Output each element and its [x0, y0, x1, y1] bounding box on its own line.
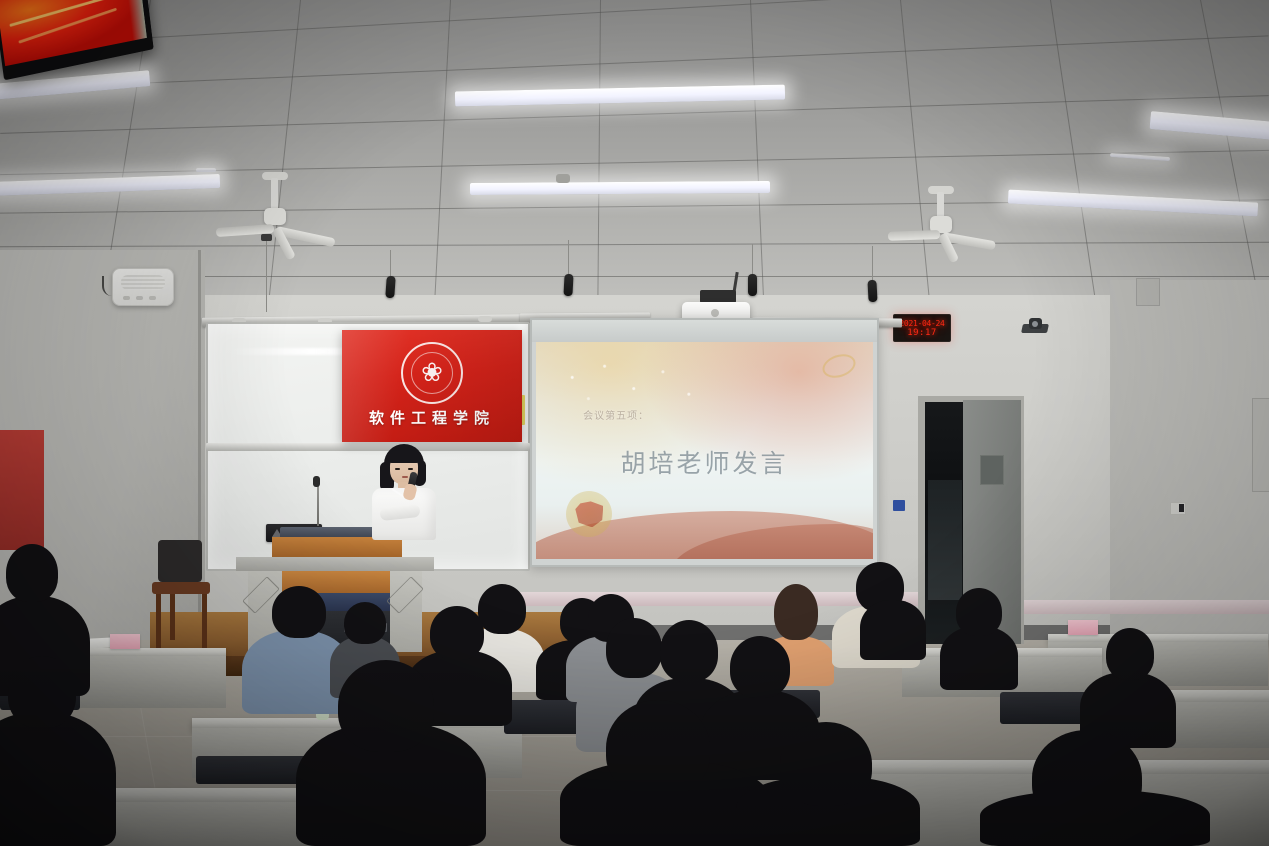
emblem-glyph: ❀ [411, 352, 453, 394]
hanging-microphone [748, 274, 757, 296]
mic-cable [752, 244, 753, 276]
wall-fixture [1136, 278, 1160, 306]
smoke-detector-icon [556, 174, 570, 183]
wall-panel [1252, 398, 1269, 492]
audience-head [8, 656, 76, 728]
desk-side [66, 656, 226, 708]
mic-cable [568, 240, 569, 276]
mic-clamp [261, 234, 272, 241]
audience-head [338, 660, 434, 752]
slide-corner-decor [820, 350, 859, 381]
mic-cable [266, 240, 267, 312]
podium-microphone [313, 476, 320, 487]
security-camera [1022, 318, 1048, 334]
audience-head [956, 588, 1002, 636]
audience-head [780, 722, 872, 806]
ceiling-light [1150, 111, 1269, 143]
hanging-microphone [385, 276, 396, 299]
name-card [110, 634, 140, 649]
presenter [368, 444, 438, 540]
audience-head [606, 700, 710, 796]
slide-star-decor [556, 355, 718, 411]
mic-cable [872, 246, 873, 282]
audience-head [1032, 730, 1142, 826]
projection-screen: 会议第五项： 胡培老师发言 [530, 318, 879, 567]
ceiling-light [470, 181, 770, 195]
lectern [236, 527, 434, 652]
audience-head [1106, 628, 1154, 680]
ceiling-light [196, 168, 216, 172]
wooden-chair[interactable] [150, 540, 214, 652]
wall-speaker [112, 268, 174, 306]
door-window [980, 455, 1004, 485]
slide-agenda-label: 会议第五项： [583, 407, 649, 422]
screen-header-bar [532, 320, 877, 342]
wall-red-panel [0, 430, 44, 550]
camera-lens-icon [1032, 321, 1038, 327]
audience-head [478, 584, 526, 634]
ceiling-light [455, 85, 785, 107]
clock-date: 2021-04-24 [899, 319, 944, 328]
department-banner: ❀ 软件工程学院 [342, 330, 522, 442]
slide-title: 胡培老师发言 [536, 444, 873, 480]
ceiling-light [1110, 153, 1170, 161]
ceiling-light [1008, 189, 1258, 216]
audience-head [774, 584, 818, 640]
baseboard [1024, 600, 1269, 614]
lecture-hall-photo: 2021-04-24 19:17 ❀ 软件工程学院 [0, 0, 1269, 846]
audience-head [660, 620, 718, 682]
college-emblem-icon: ❀ [401, 342, 463, 404]
audience-member [0, 712, 116, 846]
podium-microphone-stand [317, 482, 319, 526]
audience-head [430, 606, 484, 660]
audience-head [272, 586, 326, 638]
audience-head [344, 602, 386, 644]
audience-head [6, 544, 58, 602]
speaker-controls[interactable] [123, 296, 156, 300]
presentation-slide: 会议第五项： 胡培老师发言 [536, 342, 873, 559]
banner-org-name: 软件工程学院 [342, 407, 522, 428]
mic-cable [390, 250, 391, 278]
light-switch[interactable] [1170, 502, 1186, 515]
speaker-grille [121, 275, 165, 290]
corridor-wall [928, 480, 962, 600]
ceiling-light [0, 174, 220, 196]
hanging-microphone [867, 280, 877, 302]
audience-head [606, 618, 662, 678]
name-card [1068, 620, 1098, 635]
exit-sign-icon [893, 500, 905, 511]
audience-member [860, 600, 926, 660]
projector-lens-icon [711, 309, 719, 317]
clock-time: 19:17 [907, 328, 937, 338]
audience-head [730, 636, 790, 698]
hanging-microphone [563, 274, 573, 296]
